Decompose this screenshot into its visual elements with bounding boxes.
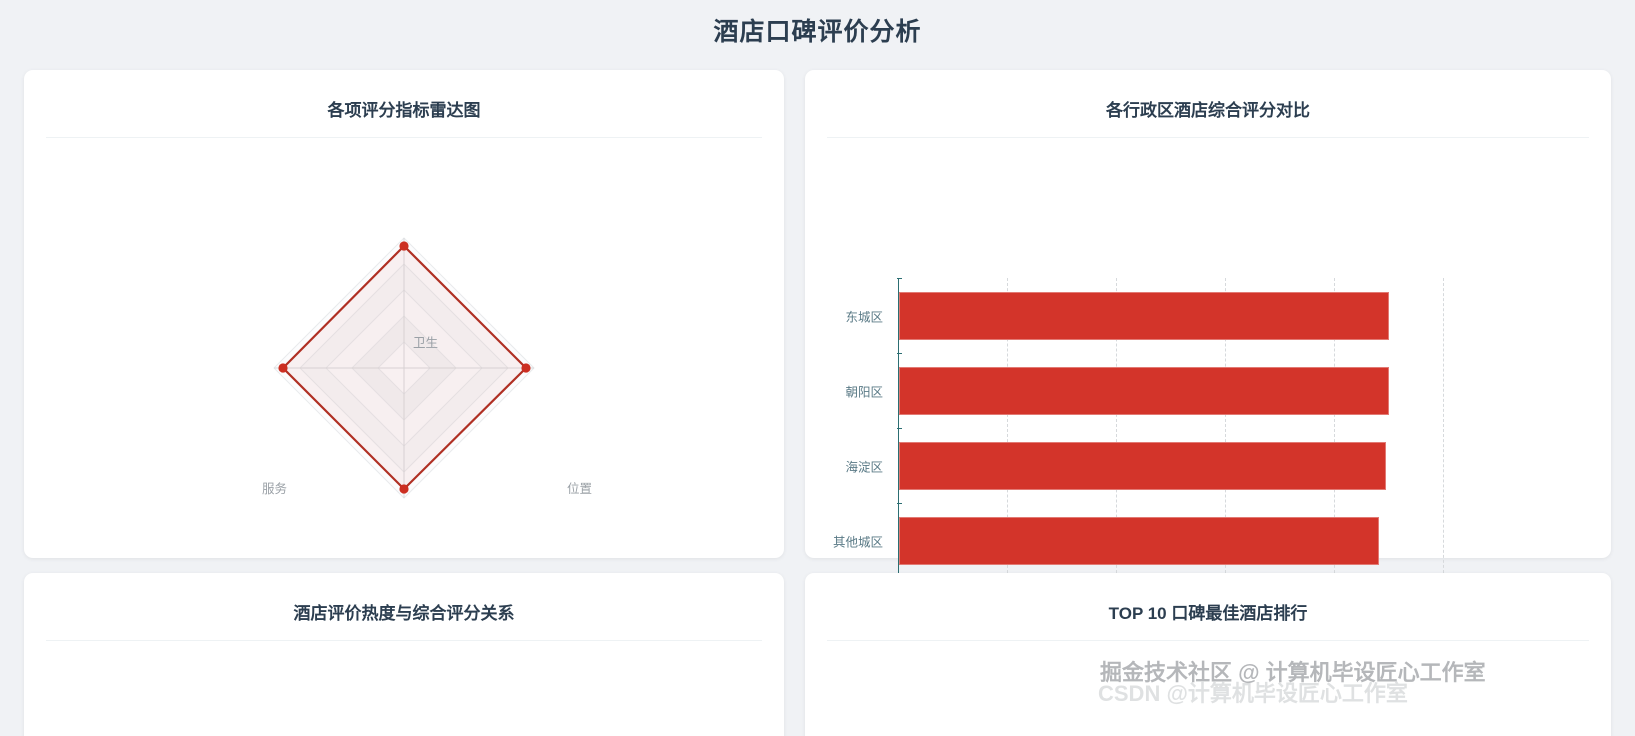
radar-axis-label-location: 位置 (567, 478, 592, 497)
radar-axis-label-hygiene: 卫生 (413, 332, 438, 351)
bar-value-rect[interactable] (899, 517, 1379, 565)
card-scatter-chart: 酒店评价热度与综合评分关系 综合评分 (24, 573, 784, 736)
bar-category-label: 东城区 (845, 307, 883, 326)
radar-point-facility (399, 484, 408, 493)
card-top10-ranking: TOP 10 口碑最佳酒店排行 (805, 573, 1611, 736)
card-bar-chart: 各行政区酒店综合评分对比 东城区 (805, 70, 1611, 558)
radar-point-service (278, 363, 287, 372)
radar-chart-svg[interactable] (24, 138, 784, 578)
radar-point-location (521, 363, 530, 372)
table-row[interactable]: 朝阳区 (899, 367, 1389, 415)
bar-y-tick-2 (897, 428, 902, 429)
card-scatter-title: 酒店评价热度与综合评分关系 (24, 573, 784, 624)
bar-category-label: 朝阳区 (845, 382, 883, 401)
bar-value-rect[interactable] (899, 292, 1389, 340)
radar-series-polygon (283, 246, 526, 489)
bar-y-tick-1 (897, 353, 902, 354)
bar-category-label: 其他城区 (833, 532, 883, 551)
bar-chart-body: 东城区 朝阳区 海淀区 其他城区 0 1 2 (805, 138, 1611, 548)
card-scatter-divider (46, 640, 762, 641)
radar-point-hygiene (399, 241, 408, 250)
bar-plot-area: 东城区 朝阳区 海淀区 其他城区 0 1 2 (898, 278, 1443, 578)
bar-y-tick-3 (897, 503, 902, 504)
bar-gridline-5 (1443, 278, 1444, 578)
card-top10-divider (827, 640, 1589, 641)
radar-axis-label-service: 服务 (262, 478, 287, 497)
table-row[interactable]: 东城区 (899, 292, 1389, 340)
dashboard-root: 酒店口碑评价分析 各项评分指标雷达图 (0, 0, 1635, 736)
card-top10-title: TOP 10 口碑最佳酒店排行 (805, 573, 1611, 624)
page-title: 酒店口碑评价分析 (0, 12, 1635, 48)
bar-y-tick-0 (897, 278, 902, 279)
bar-value-rect[interactable] (899, 367, 1389, 415)
card-radar-title: 各项评分指标雷达图 (24, 70, 784, 121)
bar-category-label: 海淀区 (845, 457, 883, 476)
card-radar-chart: 各项评分指标雷达图 (24, 70, 784, 558)
card-bar-title: 各行政区酒店综合评分对比 (805, 70, 1611, 121)
radar-chart-body: 卫生 位置 设施 服务 综合评分 (24, 138, 784, 538)
table-row[interactable]: 海淀区 (899, 442, 1386, 490)
table-row[interactable]: 其他城区 (899, 517, 1379, 565)
bar-value-rect[interactable] (899, 442, 1386, 490)
